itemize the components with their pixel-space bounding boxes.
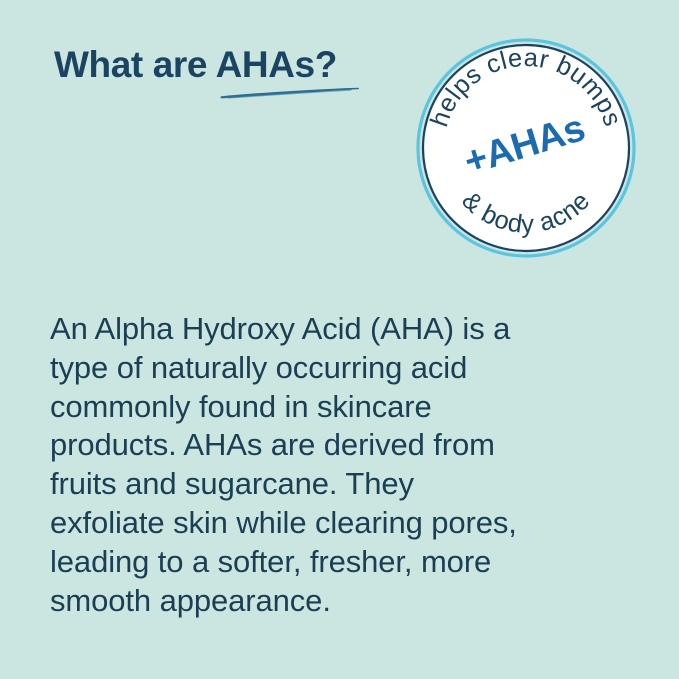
body-line: fruits and sugarcane. They: [50, 465, 630, 504]
infographic-panel: What are AHAs? helps clear bumps: [0, 0, 679, 679]
title-underline-brushstroke: [220, 86, 360, 100]
body-line: smooth appearance.: [50, 582, 630, 621]
body-line: An Alpha Hydroxy Acid (AHA) is a: [50, 310, 630, 349]
body-line: exfoliate skin while clearing pores,: [50, 504, 630, 543]
page-title: What are AHAs?: [54, 44, 384, 86]
body-line: products. AHAs are derived from: [50, 426, 630, 465]
body-line: commonly found in skincare: [50, 388, 630, 427]
body-line: leading to a softer, fresher, more: [50, 543, 630, 582]
heading-block: What are AHAs?: [54, 44, 384, 108]
body-line: type of naturally occurring acid: [50, 349, 630, 388]
body-paragraph: An Alpha Hydroxy Acid (AHA) is a type of…: [50, 310, 630, 620]
aha-claim-badge: helps clear bumps & body acne +AHAs: [415, 37, 637, 259]
